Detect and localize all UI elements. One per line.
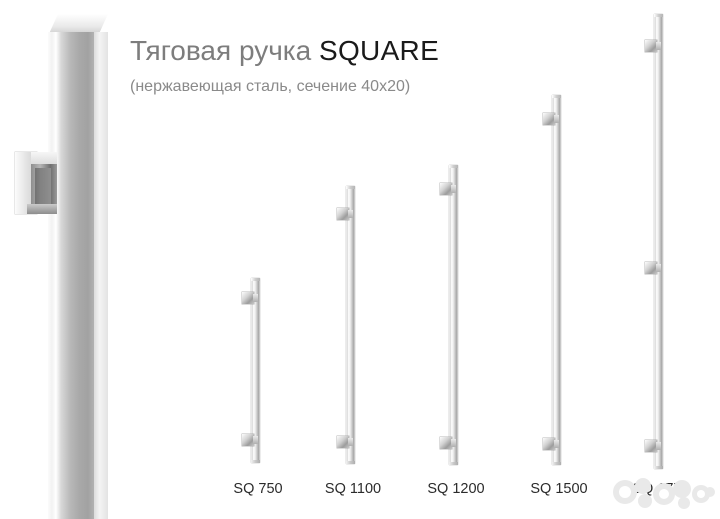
- handle-large-foreground: [48, 14, 108, 519]
- mount-neck: [656, 442, 661, 450]
- mount-arm-bottom: [27, 204, 57, 214]
- mount-neck: [656, 42, 661, 50]
- handle-large-side-face: [94, 32, 108, 519]
- handle-sq-1770: [654, 14, 663, 469]
- handle-bar: [346, 186, 355, 464]
- mount-neck: [554, 440, 559, 448]
- handle-sq-1200: [449, 165, 458, 465]
- size-label-sq-1770: SQ 1770: [632, 481, 689, 497]
- handle-mount-bracket: [645, 40, 657, 52]
- handle-mount-bracket: [242, 434, 254, 446]
- mount-neck: [253, 436, 258, 444]
- handle-sq-1100: [346, 186, 355, 464]
- size-label-sq-1500: SQ 1500: [530, 481, 587, 497]
- handle-large-mount-bracket: [15, 152, 55, 214]
- title-block: Тяговая ручка SQUARE (нержавеющая сталь,…: [130, 34, 550, 97]
- handle-mount-bracket: [337, 436, 349, 448]
- size-label-sq-750: SQ 750: [233, 481, 282, 497]
- page-title: Тяговая ручка SQUARE: [130, 34, 550, 68]
- mount-neck: [451, 185, 456, 193]
- size-label-sq-1200: SQ 1200: [427, 481, 484, 497]
- mount-neck: [253, 294, 258, 302]
- handle-bar: [449, 165, 458, 465]
- handle-mount-bracket: [543, 113, 555, 125]
- product-image: Тяговая ручка SQUARE (нержавеющая сталь,…: [0, 0, 720, 519]
- mount-neck: [554, 115, 559, 123]
- handle-mount-bracket: [337, 208, 349, 220]
- handle-sq-750: [251, 278, 260, 463]
- mount-neck: [656, 264, 661, 272]
- handle-mount-bracket: [440, 183, 452, 195]
- handle-bar: [552, 95, 561, 465]
- mount-neck: [348, 210, 353, 218]
- mount-neck: [451, 439, 456, 447]
- title-ru: Тяговая ручка: [130, 35, 319, 66]
- handle-mount-bracket: [645, 440, 657, 452]
- handle-large-front-face: [48, 32, 98, 519]
- title-en: SQUARE: [319, 35, 439, 66]
- mount-neck: [348, 438, 353, 446]
- handle-mount-bracket: [543, 438, 555, 450]
- subtitle: (нержавеющая сталь, сечение 40x20): [130, 77, 550, 97]
- mount-inner-shadow: [35, 168, 51, 204]
- handle-sq-1500: [552, 95, 561, 465]
- handle-mount-bracket: [645, 262, 657, 274]
- size-label-sq-1100: SQ 1100: [325, 481, 381, 497]
- handle-bar: [654, 14, 663, 469]
- handle-mount-bracket: [440, 437, 452, 449]
- handle-mount-bracket: [242, 292, 254, 304]
